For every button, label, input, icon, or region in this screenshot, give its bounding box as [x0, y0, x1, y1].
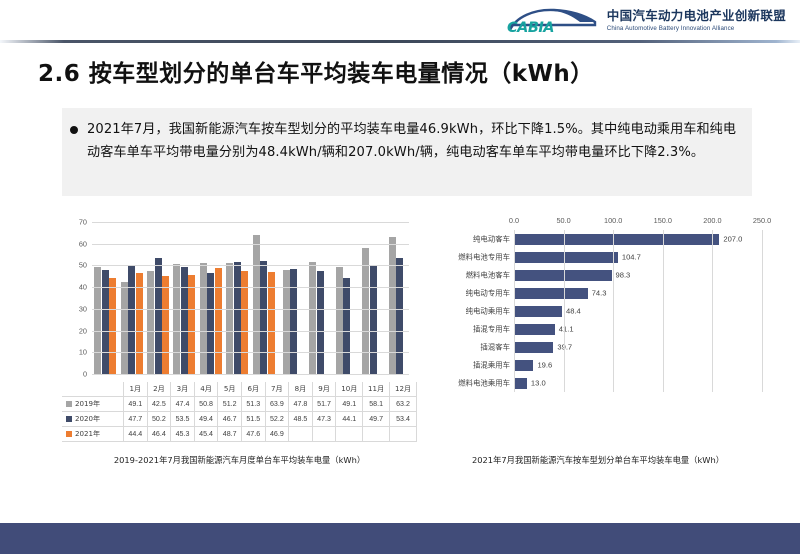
table-cell: 52.2	[265, 412, 289, 427]
right-chart-bar-row: 纯电动乘用车48.4	[514, 306, 762, 317]
table-cell	[363, 427, 390, 442]
gridline	[92, 222, 409, 223]
table-col-header: 12月	[390, 382, 417, 397]
right-chart-x-tick: 50.0	[556, 216, 570, 225]
table-cell: 49.1	[336, 397, 363, 412]
right-chart-bar-row: 燃料电池客车98.3	[514, 270, 762, 281]
table-cell: 47.3	[312, 412, 336, 427]
gridline	[92, 244, 409, 245]
left-chart-caption: 2019-2021年7月我国新能源汽车月度单台车平均装车电量（kWh）	[62, 454, 417, 466]
left-chart-bar-group	[171, 222, 197, 374]
left-chart-bar	[370, 266, 377, 374]
right-chart-bar	[514, 360, 533, 371]
monthly-average-chart: 010203040506070 1月2月3月4月5月6月7月8月9月10月11月…	[62, 212, 417, 450]
right-chart-value-label: 207.0	[723, 235, 742, 244]
left-chart-bar	[309, 262, 316, 374]
right-chart-value-label: 39.7	[557, 343, 572, 352]
right-chart-value-label: 19.6	[537, 361, 552, 370]
table-cell	[312, 427, 336, 442]
table-cell: 51.7	[312, 397, 336, 412]
right-chart-bar	[514, 378, 527, 389]
right-chart-category-label: 燃料电池专用车	[458, 252, 510, 263]
right-chart-bar	[514, 306, 562, 317]
table-cell: 63.2	[390, 397, 417, 412]
right-chart-bar-row: 燃料电池专用车104.7	[514, 252, 762, 263]
table-cell: 50.8	[194, 397, 218, 412]
table-col-header: 4月	[194, 382, 218, 397]
summary-callout: 2021年7月，我国新能源汽车按车型划分的平均装车电量46.9kWh，环比下降1…	[62, 108, 752, 196]
brand-logo: CABIA 中国汽车动力电池产业创新联盟 China Automotive Ba…	[502, 6, 786, 36]
table-header-row: 1月2月3月4月5月6月7月8月9月10月11月12月	[62, 382, 417, 397]
gridline	[92, 331, 409, 332]
table-col-header: 8月	[289, 382, 313, 397]
left-chart-bar	[396, 258, 403, 374]
table-col-header: 7月	[265, 382, 289, 397]
table-cell: 48.5	[289, 412, 313, 427]
left-chart-bar	[389, 237, 396, 374]
left-chart-bar	[241, 271, 248, 374]
table-series-label: 2021年	[62, 427, 124, 442]
left-chart-bar	[343, 278, 350, 374]
left-chart-y-tick: 10	[79, 348, 87, 357]
right-chart-bar	[514, 324, 555, 335]
table-cell: 45.4	[194, 427, 218, 442]
left-chart-bar	[121, 282, 128, 374]
table-cell	[336, 427, 363, 442]
table-cell: 53.4	[390, 412, 417, 427]
table-cell	[390, 427, 417, 442]
gridline	[762, 230, 763, 392]
left-chart-y-tick: 0	[83, 370, 87, 379]
page-title: 2.6 按车型划分的单台车平均装车电量情况（kWh）	[38, 54, 594, 88]
left-chart-bar	[109, 278, 116, 374]
left-chart-bar	[283, 270, 290, 374]
table-row: 2019年49.142.547.450.851.251.363.947.851.…	[62, 397, 417, 412]
table-col-header: 10月	[336, 382, 363, 397]
gridline	[92, 309, 409, 310]
table-col-header: 11月	[363, 382, 390, 397]
left-chart-bar	[188, 275, 195, 374]
right-chart-category-label: 插混客车	[480, 342, 510, 353]
table-col-header: 2月	[147, 382, 171, 397]
slide-header: CABIA 中国汽车动力电池产业创新联盟 China Automotive Ba…	[0, 0, 800, 42]
table-cell: 47.4	[171, 397, 195, 412]
left-chart-bar-group	[145, 222, 171, 374]
right-chart-category-label: 插混乘用车	[473, 360, 510, 371]
right-chart-bar	[514, 234, 719, 245]
table-cell: 42.5	[147, 397, 171, 412]
left-chart-bar	[94, 267, 101, 374]
table-col-header: 5月	[218, 382, 242, 397]
table-col-header: 3月	[171, 382, 195, 397]
left-chart-bar	[215, 268, 222, 374]
table-cell: 47.8	[289, 397, 313, 412]
cabia-logo-icon: CABIA	[502, 6, 598, 36]
table-row: 2021年44.446.445.345.448.747.646.9	[62, 427, 417, 442]
monthly-data-table: 1月2月3月4月5月6月7月8月9月10月11月12月2019年49.142.5…	[62, 382, 417, 442]
left-chart-y-tick: 30	[79, 304, 87, 313]
right-chart-category-label: 纯电动专用车	[466, 288, 510, 299]
left-chart-bar	[362, 248, 369, 374]
legend-swatch-icon	[66, 416, 72, 422]
right-chart-x-tick: 150.0	[654, 216, 672, 225]
table-cell: 48.7	[218, 427, 242, 442]
right-chart-category-label: 燃料电池乘用车	[458, 378, 510, 389]
left-chart-y-tick: 60	[79, 239, 87, 248]
right-chart-bar-row: 插混专用车41.1	[514, 324, 762, 335]
table-cell: 53.5	[171, 412, 195, 427]
right-chart-x-tick: 0.0	[509, 216, 519, 225]
left-chart-bar	[290, 269, 297, 374]
right-chart-bar-row: 纯电动客车207.0	[514, 234, 762, 245]
right-chart-value-label: 41.1	[559, 325, 574, 334]
gridline	[514, 230, 515, 392]
table-cell: 44.4	[124, 427, 148, 442]
table-cell: 49.7	[363, 412, 390, 427]
table-cell: 46.4	[147, 427, 171, 442]
table-cell: 63.9	[265, 397, 289, 412]
table-cell: 46.9	[265, 427, 289, 442]
left-chart-bar	[260, 261, 267, 374]
gridline	[712, 230, 713, 392]
left-chart-bar	[173, 264, 180, 374]
left-chart-bar	[102, 270, 109, 374]
right-chart-bar-row: 插混客车39.7	[514, 342, 762, 353]
gridline	[92, 287, 409, 288]
left-chart-bar-group	[356, 222, 382, 374]
left-chart-bar-group	[303, 222, 329, 374]
svg-text:CABIA: CABIA	[507, 20, 554, 36]
left-chart-bar	[226, 263, 233, 374]
left-chart-bar	[181, 267, 188, 374]
right-chart-bar-row: 燃料电池乘用车13.0	[514, 378, 762, 389]
table-col-header: 1月	[124, 382, 148, 397]
left-chart-bar	[155, 258, 162, 374]
left-chart-bar-group	[330, 222, 356, 374]
left-chart-bar-group	[118, 222, 144, 374]
legend-swatch-icon	[66, 401, 72, 407]
left-chart-bar	[128, 265, 135, 374]
table-series-label: 2019年	[62, 397, 124, 412]
left-chart-bar	[234, 262, 241, 374]
table-cell: 49.1	[124, 397, 148, 412]
right-chart-value-label: 98.3	[616, 271, 631, 280]
slide-footer	[0, 523, 800, 554]
left-chart-bar-group	[198, 222, 224, 374]
right-chart-category-label: 纯电动客车	[473, 234, 510, 245]
table-series-label: 2020年	[62, 412, 124, 427]
left-chart-y-tick: 20	[79, 326, 87, 335]
left-chart-y-axis: 010203040506070	[62, 222, 90, 374]
left-chart-bar	[200, 263, 207, 374]
table-cell: 51.5	[241, 412, 265, 427]
gridline	[613, 230, 614, 392]
right-chart-bar	[514, 288, 588, 299]
left-chart-bar-group	[383, 222, 409, 374]
table-cell: 51.3	[241, 397, 265, 412]
right-chart-plot: 纯电动客车207.0燃料电池专用车104.7燃料电池客车98.3纯电动专用车74…	[514, 230, 762, 392]
right-chart-bar	[514, 252, 618, 263]
org-name-en: China Automotive Battery Innovation Alli…	[607, 25, 786, 33]
left-chart-y-tick: 70	[79, 218, 87, 227]
slide: CABIA 中国汽车动力电池产业创新联盟 China Automotive Ba…	[0, 0, 800, 554]
right-chart-category-label: 燃料电池客车	[466, 270, 510, 281]
table-col-header: 6月	[241, 382, 265, 397]
left-chart-bar	[162, 276, 169, 374]
table-cell: 58.1	[363, 397, 390, 412]
legend-swatch-icon	[66, 431, 72, 437]
left-chart-bar	[336, 267, 343, 374]
right-chart-value-label: 104.7	[622, 253, 641, 262]
bullet-dot-icon	[70, 126, 78, 134]
header-divider	[0, 40, 800, 43]
right-chart-category-label: 纯电动乘用车	[466, 306, 510, 317]
left-chart-bar-group	[92, 222, 118, 374]
right-chart-value-label: 48.4	[566, 307, 581, 316]
left-chart-bar	[136, 273, 143, 374]
right-chart-x-tick: 200.0	[703, 216, 721, 225]
org-name-cn: 中国汽车动力电池产业创新联盟	[607, 9, 786, 23]
right-chart-bar-row: 纯电动专用车74.3	[514, 288, 762, 299]
table-cell: 46.7	[218, 412, 242, 427]
gridline	[92, 352, 409, 353]
right-chart-bar-row: 插混乘用车19.6	[514, 360, 762, 371]
left-chart-bar-group	[277, 222, 303, 374]
right-chart-bar	[514, 342, 553, 353]
table-cell: 47.6	[241, 427, 265, 442]
right-chart-category-label: 插混专用车	[473, 324, 510, 335]
by-vehicle-type-chart: 0.050.0100.0150.0200.0250.0 纯电动客车207.0燃料…	[428, 212, 768, 450]
table-row: 2020年47.750.253.549.446.751.552.248.547.…	[62, 412, 417, 427]
right-chart-x-tick: 250.0	[753, 216, 771, 225]
gridline	[663, 230, 664, 392]
left-chart-y-tick: 40	[79, 283, 87, 292]
left-chart-bar-group	[251, 222, 277, 374]
table-cell: 47.7	[124, 412, 148, 427]
right-chart-value-label: 74.3	[592, 289, 607, 298]
table-cell: 51.2	[218, 397, 242, 412]
left-chart-y-tick: 50	[79, 261, 87, 270]
gridline	[564, 230, 565, 392]
summary-text: 2021年7月，我国新能源汽车按车型划分的平均装车电量46.9kWh，环比下降1…	[87, 118, 738, 165]
right-chart-value-label: 13.0	[531, 379, 546, 388]
table-cell: 50.2	[147, 412, 171, 427]
gridline	[92, 374, 409, 375]
right-chart-x-axis: 0.050.0100.0150.0200.0250.0	[514, 216, 762, 228]
table-cell: 44.1	[336, 412, 363, 427]
table-cell: 45.3	[171, 427, 195, 442]
right-chart-x-tick: 100.0	[604, 216, 622, 225]
left-chart-bar-group	[224, 222, 250, 374]
left-chart-plot	[92, 222, 409, 374]
table-cell: 49.4	[194, 412, 218, 427]
gridline	[92, 265, 409, 266]
right-chart-caption: 2021年7月我国新能源汽车按车型划分单台车平均装车电量（kWh）	[428, 454, 768, 466]
table-cell	[289, 427, 313, 442]
table-col-header: 9月	[312, 382, 336, 397]
